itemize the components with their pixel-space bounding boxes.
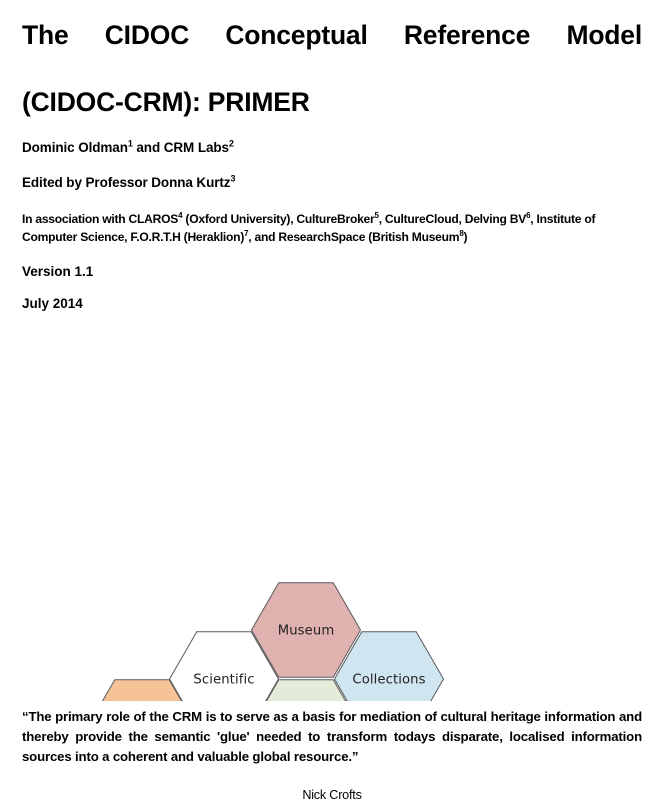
author-name: Dominic Oldman [22, 140, 128, 155]
footnote-ref-3: 3 [230, 174, 235, 184]
hex-label-collections: Collections [352, 673, 425, 688]
hexagon-diagram: MuseumScientificCollectionsAcademyLibrar… [0, 311, 664, 701]
version-label: Version 1.1 [22, 247, 642, 279]
document-page: The CIDOC Conceptual Reference Model (CI… [0, 0, 664, 793]
editor-name: Edited by Professor Donna Kurtz [22, 175, 230, 190]
hex-label-scientific: Scientific [193, 673, 254, 688]
assoc-part-6: ) [464, 230, 468, 244]
hex-label-museum: Museum [278, 624, 335, 639]
page-title: The CIDOC Conceptual Reference Model (CI… [22, 0, 642, 119]
footnote-ref-2: 2 [229, 139, 234, 149]
assoc-part-2: (Oxford University), CultureBroker [182, 212, 374, 226]
date-label: July 2014 [22, 279, 642, 311]
pull-quote: “The primary role of the CRM is to serve… [22, 701, 642, 767]
authors-line: Dominic Oldman1 and CRM Labs2 [22, 119, 642, 155]
association-line: In association with CLAROS4 (Oxford Univ… [22, 190, 642, 247]
assoc-part-5: , and ResearchSpace (British Museum [248, 230, 459, 244]
title-line-1: The CIDOC Conceptual Reference Model [22, 19, 642, 86]
quote-attribution: Nick Crofts [22, 767, 642, 802]
authors-connector: and CRM Labs [133, 140, 229, 155]
title-line-2: (CIDOC-CRM): PRIMER [22, 86, 642, 119]
assoc-part-1: In association with CLAROS [22, 212, 178, 226]
assoc-part-3: , CultureCloud, Delving BV [379, 212, 526, 226]
hexagon-diagram-svg: MuseumScientificCollectionsAcademyLibrar… [0, 311, 664, 701]
editor-line: Edited by Professor Donna Kurtz3 [22, 155, 642, 190]
